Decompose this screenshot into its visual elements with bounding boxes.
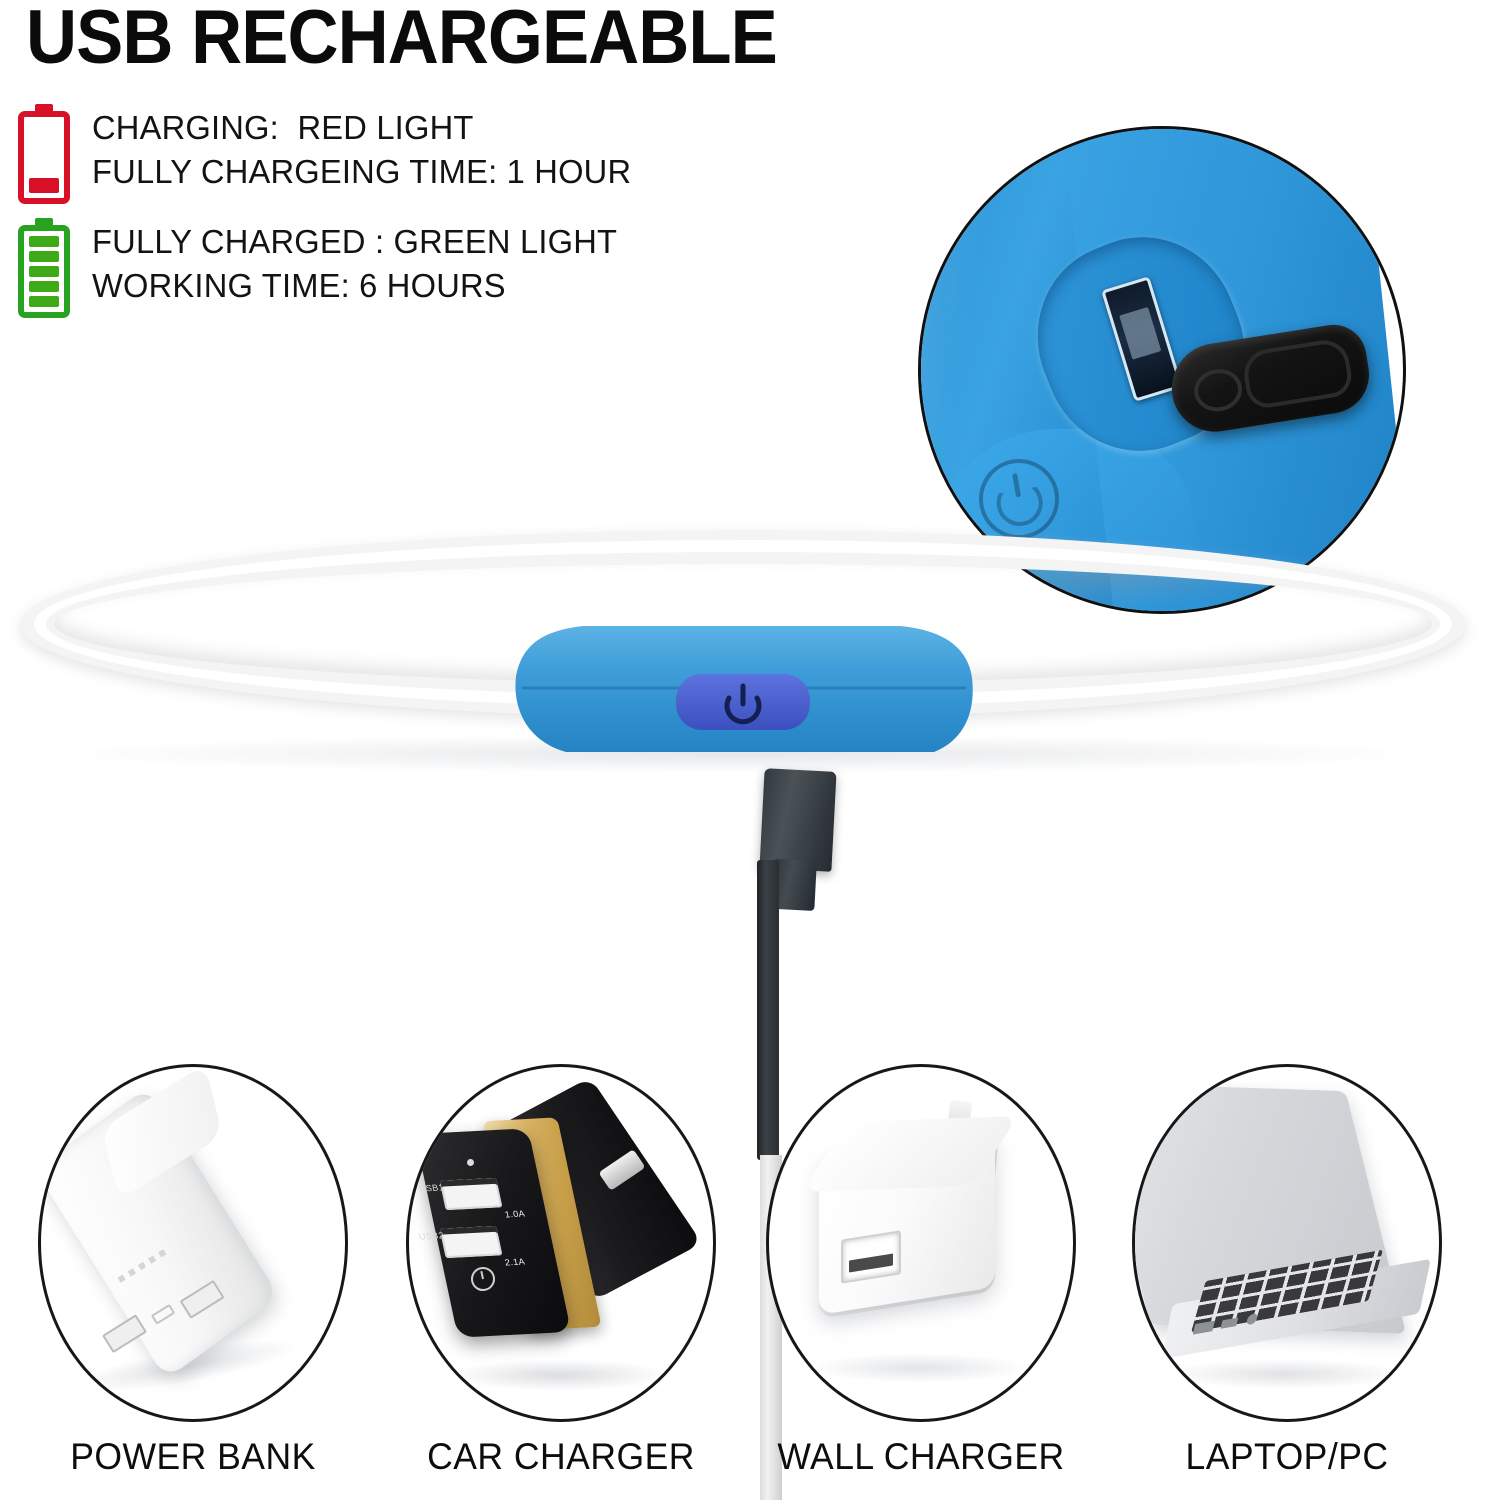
spec-line-charging-2: FULLY CHARGEING TIME: 1 HOUR xyxy=(92,150,631,194)
charging-source-label: WALL CHARGER xyxy=(763,1436,1080,1478)
page-title: USB RECHARGEABLE xyxy=(26,0,777,80)
battery-shell xyxy=(18,111,70,204)
spec-line-charged-1: FULLY CHARGED : GREEN LIGHT xyxy=(92,220,617,264)
charging-source-car-charger[interactable]: USB1 USB2 1.0A 2.1A CAR CHARGER xyxy=(396,1064,726,1478)
usb1-current: 1.0A xyxy=(504,1209,526,1220)
battery-segment xyxy=(29,281,59,292)
usb1-label: USB1 xyxy=(418,1182,445,1193)
charging-source-label: LAPTOP/PC xyxy=(1129,1436,1446,1478)
spec-row-charged: FULLY CHARGED : GREEN LIGHT WORKING TIME… xyxy=(18,218,622,318)
battery-full-green-icon xyxy=(18,218,70,318)
usb-a-port xyxy=(102,1314,147,1353)
usb-a-port xyxy=(1193,1321,1215,1335)
battery-segment xyxy=(29,236,59,247)
micro-usb-port xyxy=(151,1304,175,1325)
charging-source-label: POWER BANK xyxy=(35,1436,352,1478)
spec-line-charged-2: WORKING TIME: 6 HOURS xyxy=(92,264,617,308)
spec-text-charging: CHARGING: RED LIGHT FULLY CHARGEING TIME… xyxy=(92,104,637,194)
usb2-port xyxy=(440,1226,503,1258)
icon-shadow xyxy=(449,1359,669,1391)
charging-source-power-bank[interactable]: POWER BANK xyxy=(28,1064,358,1478)
laptop-icon xyxy=(1132,1064,1442,1422)
charging-source-wall-charger[interactable]: WALL CHARGER xyxy=(756,1064,1086,1478)
thunderbolt-port xyxy=(1220,1318,1238,1329)
battery-segment xyxy=(29,296,59,307)
status-led xyxy=(467,1159,474,1166)
car-charger-icon: USB1 USB2 1.0A 2.1A xyxy=(406,1064,716,1422)
battery-segment xyxy=(29,251,59,262)
led-collar-loop xyxy=(0,520,1486,770)
battery-shell xyxy=(18,225,70,318)
spec-text-charged: FULLY CHARGED : GREEN LIGHT WORKING TIME… xyxy=(92,218,622,308)
spec-line-charging-1: CHARGING: RED LIGHT xyxy=(92,106,631,150)
usb-plug xyxy=(759,768,836,872)
charging-source-laptop-pc[interactable]: LAPTOP/PC xyxy=(1122,1064,1452,1478)
icon-shadow xyxy=(809,1353,1029,1383)
usb2-current: 2.1A xyxy=(504,1257,526,1268)
collar-silicone-tube xyxy=(20,530,1466,718)
charging-source-label: CAR CHARGER xyxy=(403,1436,720,1478)
spec-row-charging: CHARGING: RED LIGHT FULLY CHARGEING TIME… xyxy=(18,104,637,204)
power-bank-icon xyxy=(38,1064,348,1422)
battery-segment xyxy=(29,178,59,193)
battery-low-red-icon xyxy=(18,104,70,204)
icon-shadow xyxy=(1165,1359,1405,1389)
wall-charger-icon xyxy=(766,1064,1076,1422)
usb2-label: USB2 xyxy=(418,1230,445,1241)
battery-segment xyxy=(29,266,59,277)
collar-drop-shadow xyxy=(60,735,1420,773)
infographic-canvas: USB RECHARGEABLE CHARGING: RED LIGHT FUL… xyxy=(0,0,1486,1500)
usb1-port xyxy=(440,1178,503,1210)
audio-jack-port xyxy=(1246,1313,1258,1325)
